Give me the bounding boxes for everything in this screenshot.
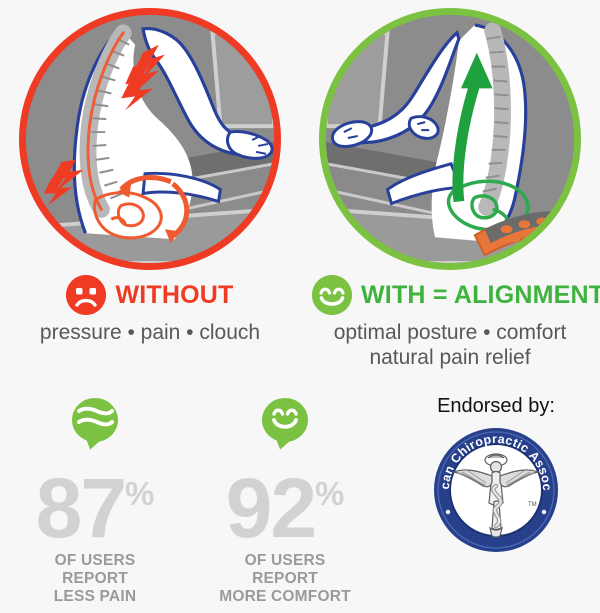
- endorsement-section: Endorsed by: American Chiropractic Assoc…: [392, 385, 600, 554]
- panel-without: WITHOUT pressure • pain • clouch: [0, 0, 300, 380]
- infographic-page: WITHOUT pressure • pain • clouch: [0, 0, 600, 613]
- label-with: WITH = ALIGNMENT: [361, 281, 600, 310]
- illustration-without-wrapper: [19, 8, 281, 270]
- subtitle-with: optimal posture • comfort natural pain r…: [300, 320, 600, 370]
- label-row-without: WITHOUT: [0, 272, 300, 318]
- percent-sign: %: [125, 475, 154, 512]
- percent-sign: %: [315, 475, 344, 512]
- subtitle-without: pressure • pain • clouch: [0, 320, 300, 345]
- caption-line-2: REPORT: [0, 570, 190, 588]
- caption-line-1: OF USERS: [0, 552, 190, 570]
- stat-number: 92: [226, 461, 315, 555]
- happy-face-icon: [312, 275, 352, 315]
- illustration-with-wrapper: [319, 8, 581, 270]
- illustration-with-circle: [319, 8, 581, 270]
- label-without: WITHOUT: [115, 281, 233, 310]
- stat-caption-more-comfort: OF USERS REPORT MORE COMFORT: [190, 552, 380, 606]
- slouched-posture-illustration: [26, 15, 274, 263]
- aca-endorsed-badge: American Chiropractic Association ENDORS…: [432, 426, 560, 554]
- badge-trademark: TM: [528, 502, 537, 508]
- label-row-with: WITH = ALIGNMENT: [300, 272, 600, 318]
- stat-less-pain: 87% OF USERS REPORT LESS PAIN: [0, 385, 190, 606]
- illustration-without-circle: [19, 8, 281, 270]
- stat-more-comfort: 92% OF USERS REPORT MORE COMFORT: [190, 385, 380, 606]
- stat-value-more-comfort: 92%: [190, 454, 380, 548]
- caption-line-3: MORE COMFORT: [190, 588, 380, 606]
- sad-face-icon: [66, 275, 106, 315]
- comparison-panels: WITHOUT pressure • pain • clouch: [0, 0, 600, 380]
- aligned-posture-illustration: [326, 15, 574, 263]
- endorsed-by-label: Endorsed by:: [392, 395, 600, 418]
- subtitle-with-line1: optimal posture • comfort: [300, 320, 600, 345]
- subtitle-with-line2: natural pain relief: [300, 345, 600, 370]
- stat-value-less-pain: 87%: [0, 454, 190, 548]
- panel-with: WITH = ALIGNMENT optimal posture • comfo…: [300, 0, 600, 380]
- stat-number: 87: [36, 461, 125, 555]
- stats-section: 87% OF USERS REPORT LESS PAIN 92% OF: [0, 385, 600, 613]
- caption-line-1: OF USERS: [190, 552, 380, 570]
- stat-caption-less-pain: OF USERS REPORT LESS PAIN: [0, 552, 190, 606]
- caption-line-2: REPORT: [190, 570, 380, 588]
- speech-bubble-waves-icon: [72, 398, 118, 442]
- speech-bubble-smiley-icon: [262, 398, 308, 442]
- caption-line-3: LESS PAIN: [0, 588, 190, 606]
